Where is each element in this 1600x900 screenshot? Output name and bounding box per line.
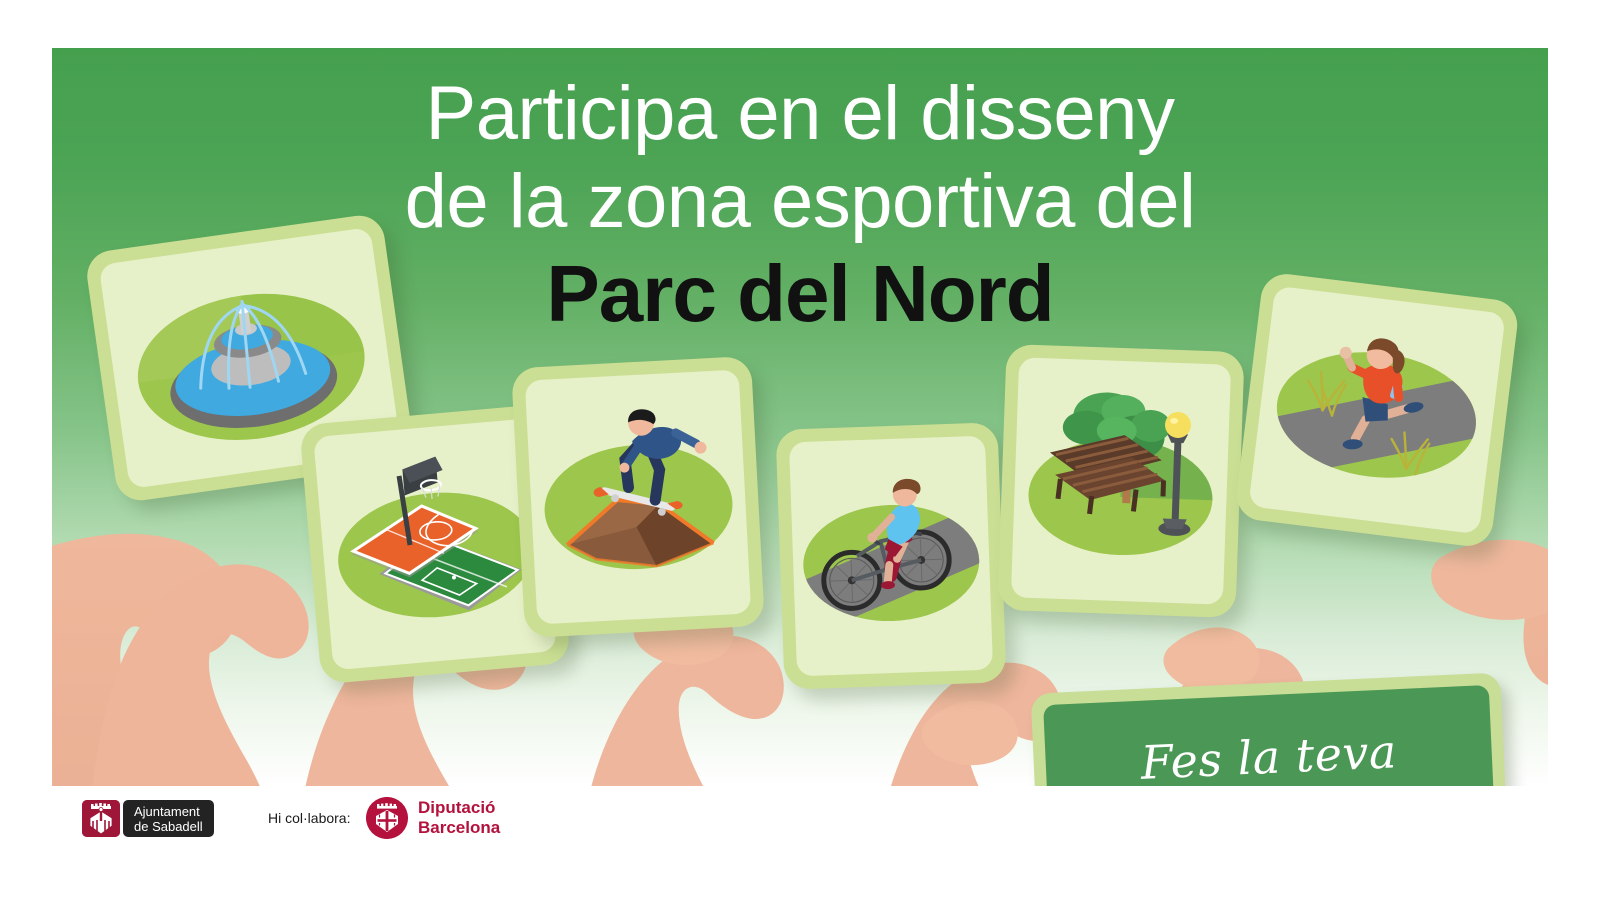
bench-and-trees-icon xyxy=(1011,357,1231,604)
running-track-icon xyxy=(1248,286,1505,535)
diba-line-1: Diputació xyxy=(418,798,500,818)
hand-left-pointing xyxy=(89,564,308,786)
fingertip-card-6 xyxy=(1431,540,1548,620)
cta-inner: Fes la teva aportació! xyxy=(1043,685,1497,786)
card-running[interactable] xyxy=(1234,271,1520,549)
logo-diputacio-barcelona[interactable]: Diputació Barcelona xyxy=(366,797,500,839)
diba-line-2: Barcelona xyxy=(418,818,500,838)
fingertip-card-5 xyxy=(1163,627,1259,692)
card-bike-inner xyxy=(789,436,993,677)
logo-ajuntament-de-sabadell[interactable]: Ajuntament de Sabadell xyxy=(82,800,214,837)
card-bike-path[interactable] xyxy=(776,422,1007,690)
poster-root: Participa en el disseny de la zona espor… xyxy=(0,0,1600,900)
sabadell-name-plate: Ajuntament de Sabadell xyxy=(123,800,214,837)
cta-box[interactable]: Fes la teva aportació! xyxy=(1031,672,1510,786)
collaborator-label: Hi col·labora: xyxy=(268,810,350,826)
cta-line-1: Fes la teva xyxy=(1139,722,1398,786)
diputacio-wordmark: Diputació Barcelona xyxy=(418,798,500,838)
bike-path-icon xyxy=(789,436,993,677)
sabadell-crest-icon xyxy=(82,800,120,837)
card-bench-inner xyxy=(1011,357,1231,604)
card-bench-trees[interactable] xyxy=(997,344,1244,618)
title-line-1: Participa en el disseny xyxy=(52,70,1548,158)
card-skatepark-inner xyxy=(525,370,751,625)
skatepark-icon xyxy=(525,370,751,625)
banner-panel: Participa en el disseny de la zona espor… xyxy=(52,48,1548,786)
footer-bar: Ajuntament de Sabadell Hi col·labora: xyxy=(0,786,1600,900)
hand-right-outer xyxy=(1523,482,1548,786)
sabadell-line-2: de Sabadell xyxy=(134,819,203,834)
fingertip-card-4 xyxy=(922,701,1018,766)
card-running-inner xyxy=(1248,286,1505,535)
hand-left-outer xyxy=(52,534,237,786)
hand-card-3 xyxy=(577,636,784,786)
diputacio-seal-icon xyxy=(366,797,408,839)
sabadell-line-1: Ajuntament xyxy=(134,804,203,819)
card-skatepark[interactable] xyxy=(511,356,765,638)
